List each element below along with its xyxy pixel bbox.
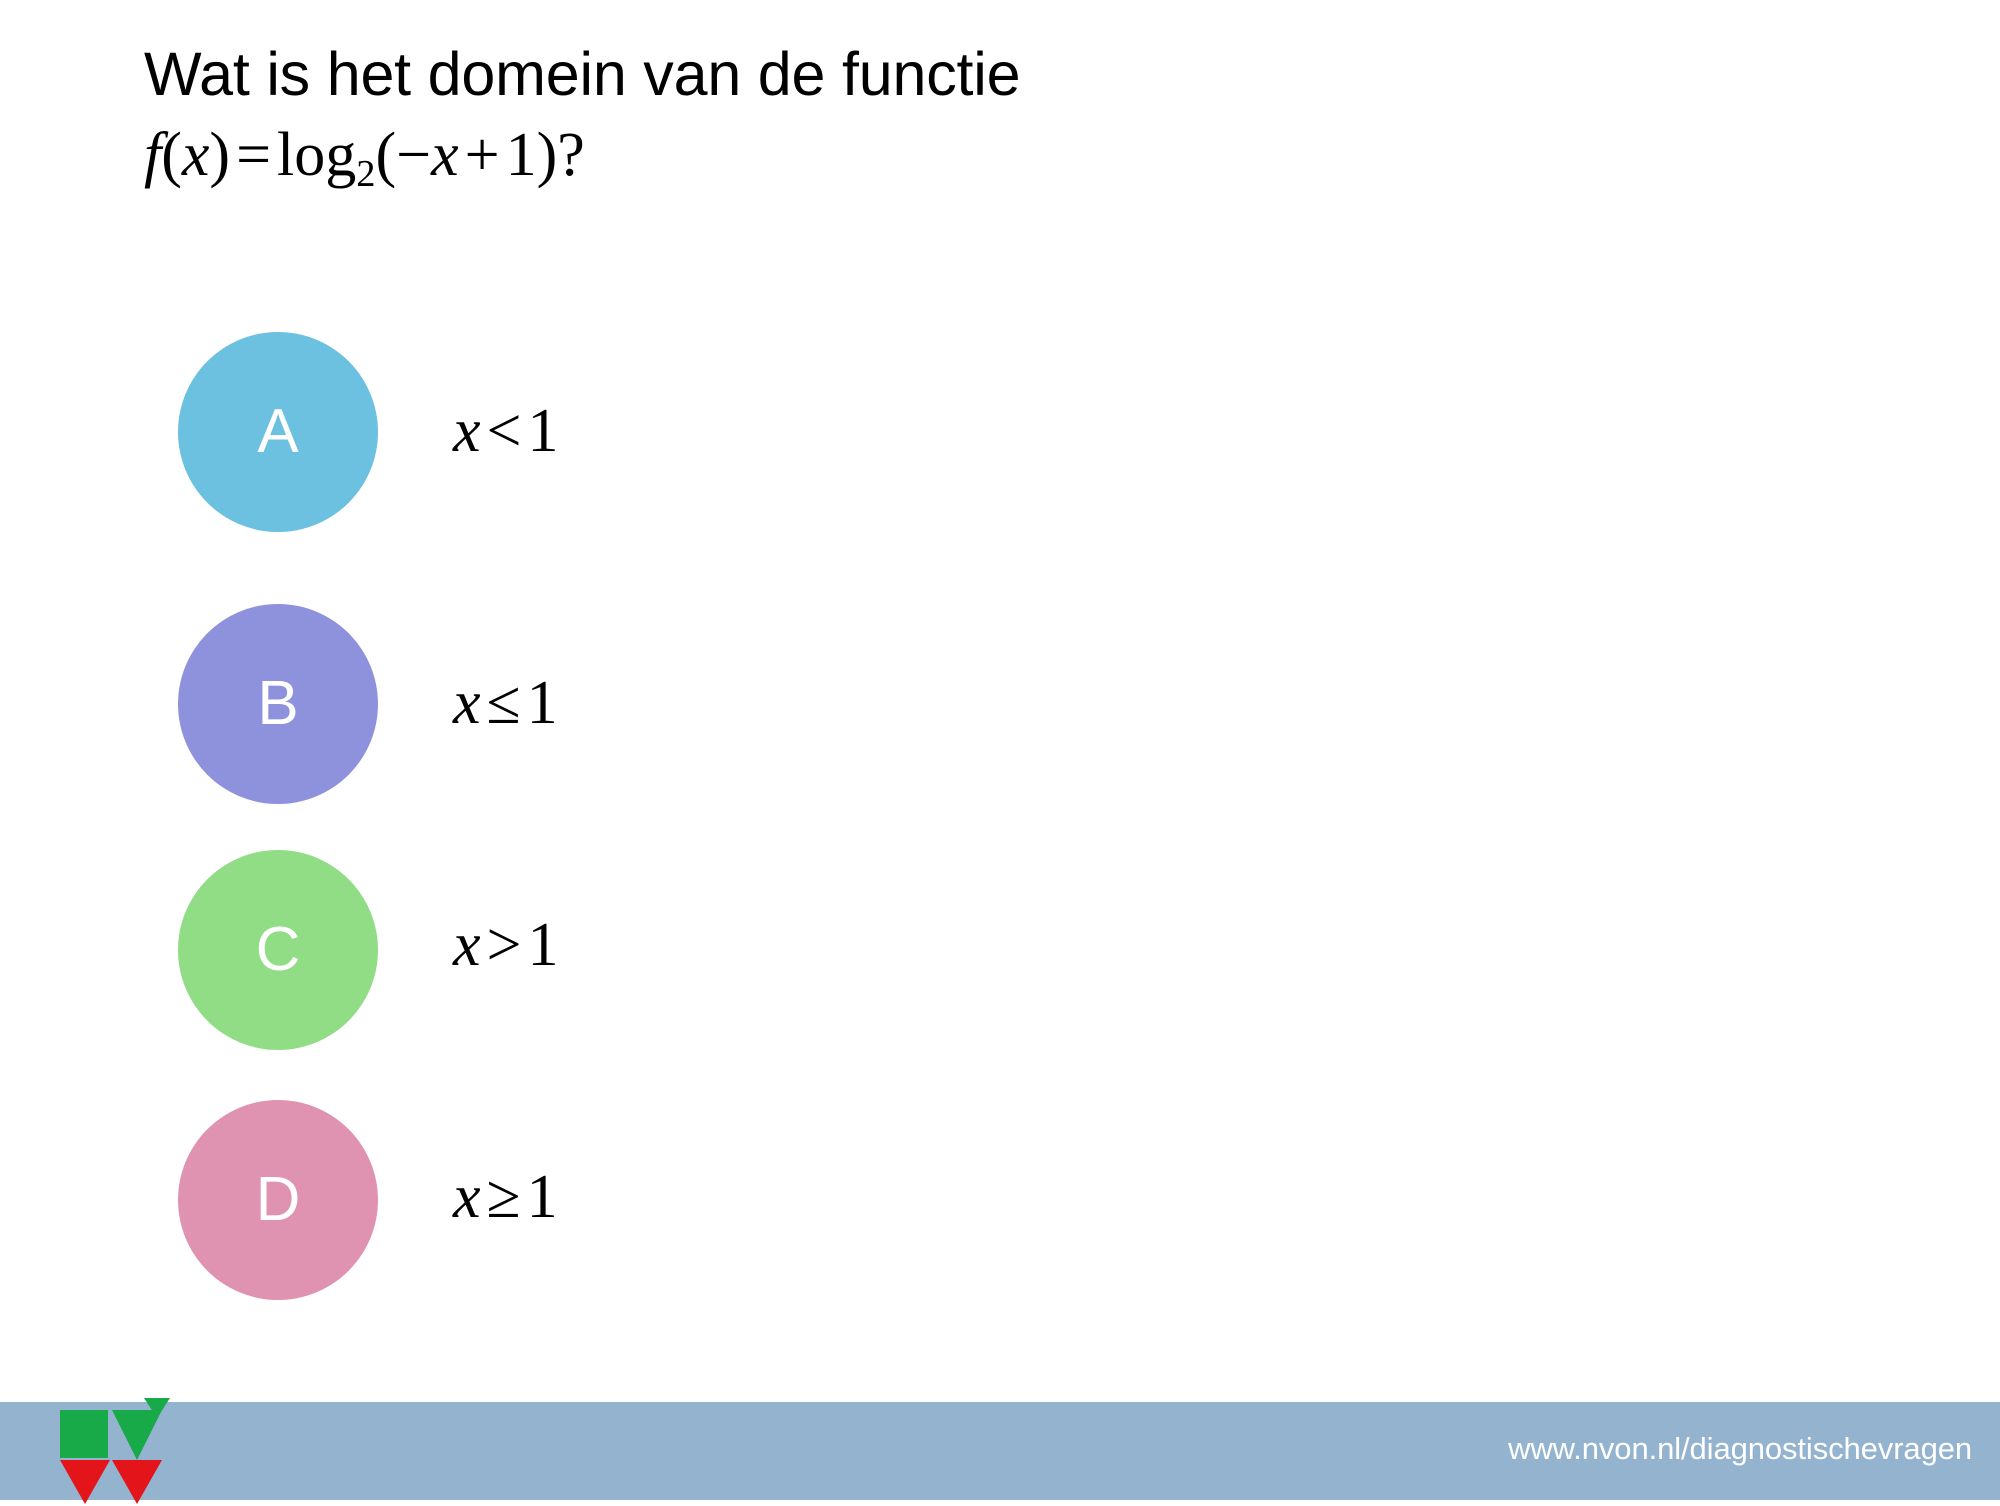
formula-minus-sign: − [396,121,431,189]
option-b-circle[interactable]: B [178,604,378,804]
formula-x-2: x [431,121,459,189]
question-formula: f(x)=log2(−x+1)? [144,118,1844,197]
option-d-value: 1 [527,1163,558,1231]
option-b-operator: ≤ [481,669,527,737]
logo-red-triangle-right [112,1460,162,1504]
option-c-variable: x [453,911,481,979]
answer-option-d[interactable]: D x≥1 [178,1082,1378,1332]
question-block: Wat is het domein van de functie f(x)=lo… [144,40,1844,197]
logo-green-square [60,1410,108,1458]
formula-x-1: x [182,121,210,189]
formula-plus-sign: + [459,121,506,189]
option-a-operator: < [481,397,528,465]
option-a-circle[interactable]: A [178,332,378,532]
answer-option-a[interactable]: A x<1 [178,332,1378,582]
slide-canvas: Wat is het domein van de functie f(x)=lo… [0,0,2000,1500]
question-title: Wat is het domein van de functie [144,40,1844,108]
formula-close-paren-2: ) [537,121,558,189]
option-c-text: x>1 [453,914,559,976]
logo-red-triangle-left [60,1460,110,1504]
option-c-operator: > [481,911,528,979]
option-c-circle[interactable]: C [178,850,378,1050]
formula-one: 1 [506,121,537,189]
option-b-letter: B [257,673,298,735]
nvon-logo-icon [52,1398,192,1506]
option-b-value: 1 [527,669,558,737]
option-a-value: 1 [528,397,559,465]
option-a-text: x<1 [453,400,559,462]
option-a-letter: A [257,401,298,463]
option-b-text: x≤1 [453,672,558,734]
answer-option-c[interactable]: C x>1 [178,832,1378,1082]
option-d-variable: x [453,1163,481,1231]
option-a-variable: x [453,397,481,465]
logo-green-triangle [112,1410,162,1460]
formula-open-paren-2: ( [376,121,397,189]
option-b-variable: x [453,669,481,737]
option-c-letter: C [256,919,301,981]
formula-log-base: 2 [356,153,375,195]
option-d-operator: ≥ [481,1163,527,1231]
formula-log: log [277,121,356,189]
answer-options-list: A x<1 B x≤1 C x>1 D [178,332,1378,1332]
formula-open-paren-1: ( [161,121,182,189]
option-d-circle[interactable]: D [178,1100,378,1300]
footer-url-label[interactable]: www.nvon.nl/diagnostischevragen [1508,1431,1972,1467]
option-d-letter: D [256,1169,301,1231]
answer-option-b[interactable]: B x≤1 [178,582,1378,832]
formula-question-mark: ? [557,121,585,189]
formula-equals: = [230,121,277,189]
formula-close-paren-1: ) [209,121,230,189]
footer-bar: www.nvon.nl/diagnostischevragen [0,1402,2000,1500]
option-d-text: x≥1 [453,1166,558,1228]
option-c-value: 1 [528,911,559,979]
formula-f: f [144,121,161,189]
